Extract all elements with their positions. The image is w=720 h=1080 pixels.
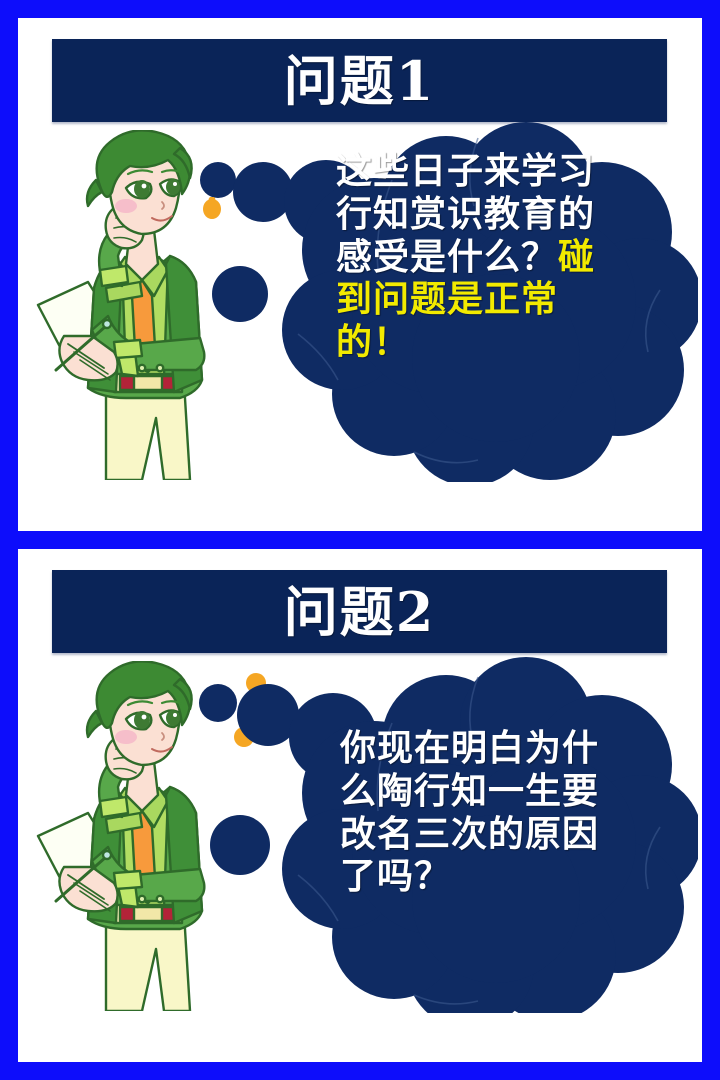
panel-2-artwork: 你现在明白为什么陶行知一生要改名三次的原因了吗？ bbox=[18, 653, 702, 1062]
panel-2-title-bar: 问题2 bbox=[52, 570, 667, 653]
panel-2-title-text: 问题2 bbox=[284, 585, 436, 639]
orange-dot-icon-1 bbox=[203, 197, 221, 219]
question-panel-1: 问题1 bbox=[18, 18, 702, 531]
thought-bubble-2 bbox=[178, 653, 698, 1013]
panel-1-artwork: 这些日子来学习行知赏识教育的感受是什么？碰到问题是正常的！ bbox=[18, 122, 702, 531]
thought-bubble-1 bbox=[178, 122, 698, 482]
thought-trail-dot-medium bbox=[233, 162, 293, 222]
question-panel-2: 问题2 bbox=[18, 549, 702, 1062]
panel-1-title-text: 问题1 bbox=[284, 54, 436, 108]
slide-frame: 问题1 bbox=[0, 0, 720, 1080]
thought-trail-dot-small bbox=[200, 162, 236, 198]
thought-trail-dot-small bbox=[199, 684, 237, 722]
panel-1-title-bar: 问题1 bbox=[52, 39, 667, 122]
